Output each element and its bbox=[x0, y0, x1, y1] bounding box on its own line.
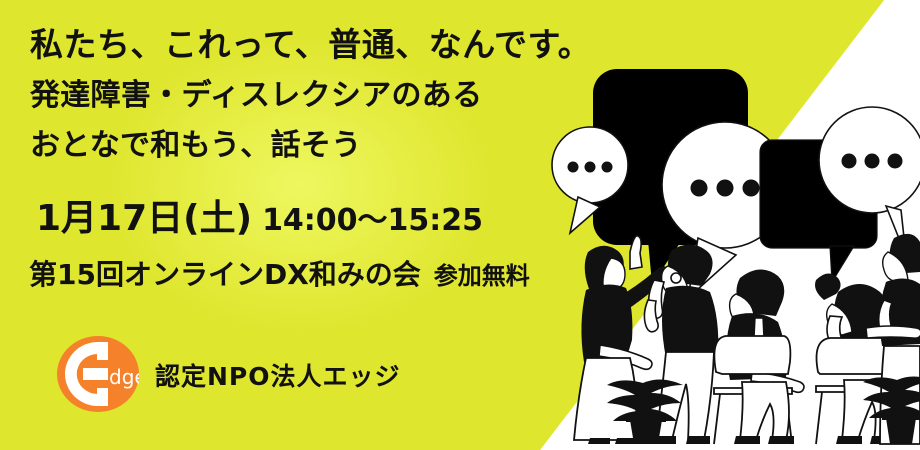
logo-suffix-text: dge bbox=[109, 365, 139, 389]
headline-line-3: おとなで和もう、話そう bbox=[30, 126, 362, 166]
event-fee-badge: 参加無料 bbox=[434, 256, 530, 291]
event-title: 第15回オンラインDX和みの会 bbox=[29, 253, 421, 293]
event-banner: 私たち、これって、普通、なんです。 発達障害・ディスレクシアのある おとなで和も… bbox=[0, 0, 920, 450]
event-time: 14:00〜15:25 bbox=[262, 195, 483, 239]
text-layer: 私たち、これって、普通、なんです。 発達障害・ディスレクシアのある おとなで和も… bbox=[0, 0, 920, 450]
headline-line-2: 発達障害・ディスレクシアのある bbox=[30, 76, 482, 116]
event-row: 第15回オンラインDX和みの会 参加無料 bbox=[29, 253, 530, 293]
event-date: 1月17日(土) bbox=[36, 189, 252, 241]
edge-logo-icon: dge bbox=[57, 336, 139, 414]
organization-name: 認定NPO法人エッジ bbox=[155, 357, 401, 393]
schedule-row: 1月17日(土) 14:00〜15:25 bbox=[36, 189, 483, 241]
headline-line-1: 私たち、これって、普通、なんです。 bbox=[30, 23, 591, 66]
organization-logo-row: dge 認定NPO法人エッジ bbox=[57, 336, 401, 414]
